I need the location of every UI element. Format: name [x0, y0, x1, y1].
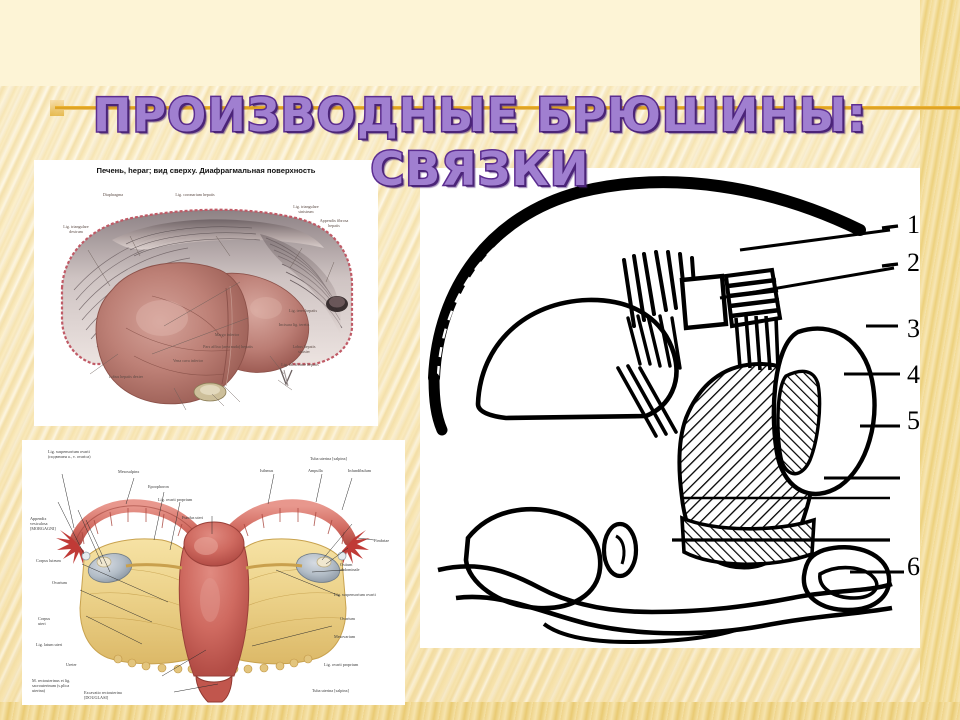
uterus-label-lig-ovarii-proprium-l: Lig. ovarii proprium	[158, 497, 216, 502]
slide-background: ПРОИЗВОДНЫЕ БРЮШИНЫ: СВЯЗКИ Печень, hepa…	[0, 0, 960, 720]
uterus-label-epoophoron: Epoophoron	[148, 484, 192, 489]
uterus-label-lig-suspensorium-r: Lig. suspensorium ovarii	[334, 592, 404, 597]
uterus-label-mesovarium: Mesovarium	[334, 634, 382, 639]
uterus-label-ovarium-left: Ovarium	[52, 580, 92, 585]
uterus-label-ureter: Ureter	[66, 662, 96, 667]
uterus-label-ampulla: Ampulla	[308, 468, 340, 473]
uterus-label-ostium-abdominale: Ostium abdominale	[340, 562, 384, 572]
page-title-line-1: ПРОИЗВОДНЫЕ БРЮШИНЫ:	[93, 88, 867, 142]
page-title: ПРОИЗВОДНЫЕ БРЮШИНЫ: СВЯЗКИ	[0, 34, 960, 250]
schema-callout-5: 5	[907, 406, 920, 436]
uterus-label-excavatio-rectouterina: Excavatio rectouterina [DOUGLASI]	[84, 690, 156, 700]
liver-label-margo-inferior: Margo inferior	[198, 332, 256, 337]
schema-callout-6: 6	[907, 552, 920, 582]
uterus-label-lig-latum-uteri: Lig. latum uteri	[36, 642, 92, 647]
liver-label-pars-affixa: Pars affixa (area nuda) hepatis	[170, 344, 286, 349]
uterus-label-fimbriae: Fimbriae	[374, 538, 402, 543]
uterus-label-lig-suspensorium-ovarii: Lig. suspensorium ovarii (подвешен a., v…	[48, 449, 126, 459]
schema-callout-2: 2	[907, 248, 920, 278]
uterus-label-infundibulum: Infundibulum	[348, 468, 392, 473]
liver-label-incisura-lig-teretis: Incisura lig. teretis	[258, 322, 330, 327]
liver-label-lobus-dexter: Lobus hepatis dexter	[86, 374, 166, 379]
uterus-label-ovarium-right: Ovarium	[340, 616, 380, 621]
uterus-label-isthmus: Isthmus	[260, 468, 290, 473]
liver-label-lig-falciforme: Lig. falciforme hepatis	[258, 362, 342, 367]
uterus-label-tuba-uterina-bottom: Tuba uterina [salpinx]	[312, 688, 378, 693]
uterus-label-mesosalpinx: Mesosalpinx	[118, 469, 162, 474]
schema-callout-3: 3	[907, 314, 920, 344]
uterus-label-appendix-vesiculosa: Appendix vesiculosa [MORGAGNI]	[30, 516, 74, 532]
liver-label-vena-cava-inferior: Vena cava inferior	[142, 358, 234, 363]
uterus-label-tuba-uterina-top: Tuba uterina [salpinx]	[310, 456, 378, 461]
figure-uterus-and-adnexa: Видеозаны	[22, 440, 405, 705]
uterus-label-corpus-uteri: Corpus uteri	[38, 616, 72, 626]
uterus-label-fundus-uteri: Fundus uteri	[182, 515, 226, 520]
page-title-line-2: СВЯЗКИ	[0, 142, 960, 196]
uterus-label-corpus-luteum: Corpus luteum	[36, 558, 88, 563]
liver-label-lig-teres: Lig. teres hepatis	[274, 308, 332, 313]
schema-callout-4: 4	[907, 360, 920, 390]
uterus-label-lig-ovarii-proprium-r: Lig. ovarii proprium	[324, 662, 384, 667]
